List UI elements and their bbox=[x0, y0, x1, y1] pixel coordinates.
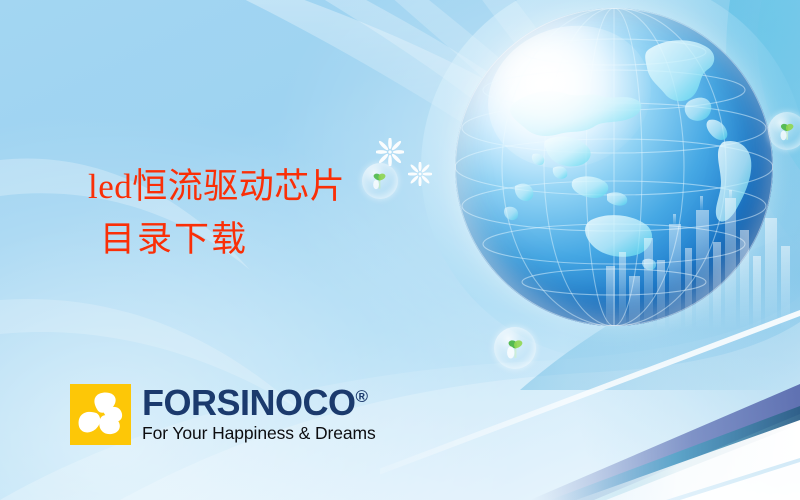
brand-logo: FORSINOCO® For Your Happiness & Dreams bbox=[70, 384, 376, 445]
logo-name-text: FORSINOCO bbox=[142, 382, 356, 423]
promo-banner: led恒流驱动芯片 目录下载 FORSINOCO® bbox=[0, 0, 800, 500]
globe-sphere bbox=[455, 8, 773, 326]
headline-line-1: led恒流驱动芯片 bbox=[88, 160, 448, 213]
logo-name: FORSINOCO® bbox=[142, 385, 376, 421]
pinwheel-petals bbox=[70, 384, 131, 445]
logo-tagline: For Your Happiness & Dreams bbox=[142, 423, 376, 444]
headline-block: led恒流驱动芯片 目录下载 bbox=[88, 160, 448, 266]
logo-wordmark: FORSINOCO® For Your Happiness & Dreams bbox=[142, 385, 376, 444]
green-sprout-icon bbox=[502, 335, 529, 362]
globe-rim-light bbox=[455, 8, 773, 326]
four-petal-pinwheel-icon bbox=[70, 384, 131, 445]
headline-line-2: 目录下载 bbox=[100, 213, 448, 266]
registered-trademark-symbol: ® bbox=[356, 387, 369, 406]
globe-icon bbox=[455, 8, 773, 326]
